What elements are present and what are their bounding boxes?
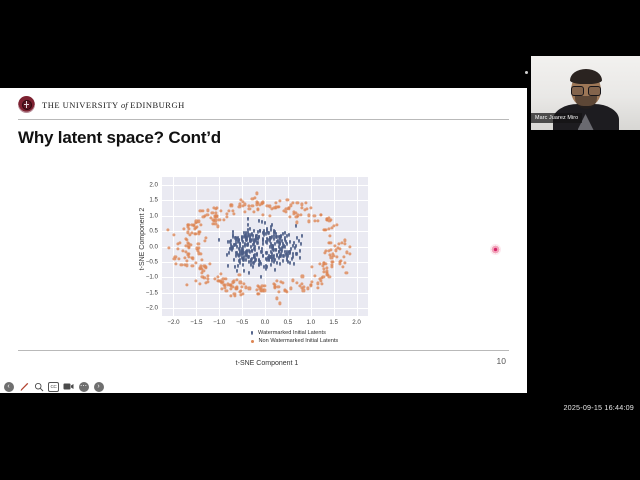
scatter-point xyxy=(228,209,231,212)
scatter-point xyxy=(182,227,185,230)
scatter-point xyxy=(188,233,191,236)
y-axis-tick-label: 0.5 xyxy=(149,228,158,235)
y-axis-tick-label: 0.0 xyxy=(149,243,158,250)
scatter-point xyxy=(295,215,298,218)
scatter-point xyxy=(191,257,194,260)
y-axis-tick-label: −2.0 xyxy=(146,305,158,312)
scatter-point xyxy=(247,217,249,221)
scatter-point xyxy=(343,242,346,245)
more-options-button[interactable]: ⋯ xyxy=(78,381,89,392)
previous-slide-icon: ‹ xyxy=(4,382,14,392)
shared-slide[interactable]: THE UNIVERSITY of EDINBURGH Why latent s… xyxy=(0,88,527,393)
scatter-point xyxy=(288,215,291,218)
scatter-point xyxy=(345,271,348,274)
scatter-point xyxy=(218,218,221,221)
scatter-point xyxy=(289,261,291,265)
x-axis-tick-label: −2.0 xyxy=(167,319,179,326)
scatter-point xyxy=(175,262,178,265)
scatter-point xyxy=(233,294,236,297)
screen-recording-frame: THE UNIVERSITY of EDINBURGH Why latent s… xyxy=(0,0,640,480)
scatter-point xyxy=(227,264,229,268)
scatter-point xyxy=(281,282,284,285)
scatter-point xyxy=(313,214,316,217)
scatter-point xyxy=(256,208,259,211)
scatter-point xyxy=(284,211,287,214)
scatter-point xyxy=(235,278,238,281)
legend-label-non-watermarked: Non Watermarked Initial Latents xyxy=(259,337,339,345)
scatter-point xyxy=(296,252,298,256)
y-axis-tick-label: 1.0 xyxy=(149,212,158,219)
scatter-point xyxy=(332,225,335,228)
scatter-point xyxy=(295,244,297,248)
scatter-point xyxy=(299,256,301,260)
scatter-point xyxy=(248,287,251,290)
scatter-point xyxy=(202,209,205,212)
scatter-point xyxy=(288,233,290,237)
scatter-point xyxy=(246,236,248,240)
scatter-point xyxy=(349,245,352,248)
scatter-point xyxy=(261,220,263,224)
scatter-point xyxy=(176,242,179,245)
y-axis-label: t-SNE Component 2 xyxy=(137,173,149,305)
scatter-point xyxy=(173,258,176,261)
scatter-point xyxy=(324,249,327,252)
scatter-point xyxy=(276,261,278,265)
scatter-point xyxy=(253,196,256,199)
scatter-point xyxy=(342,256,345,259)
scatter-point xyxy=(274,286,277,289)
scatter-point xyxy=(290,287,293,290)
scatter-point xyxy=(313,219,316,222)
scatter-point xyxy=(176,248,179,251)
scatter-point xyxy=(207,278,210,281)
scatter-point xyxy=(207,209,210,212)
scatter-point xyxy=(277,286,280,289)
y-axis-tick-label: −0.5 xyxy=(146,258,158,265)
scatter-point xyxy=(344,261,347,264)
scatter-point xyxy=(295,221,298,224)
scatter-point xyxy=(219,209,222,212)
university-brand: THE UNIVERSITY of EDINBURGH xyxy=(18,96,185,113)
scatter-point xyxy=(328,276,331,279)
scatter-point xyxy=(208,262,211,265)
scatter-point xyxy=(253,261,255,265)
scatter-point xyxy=(198,283,201,286)
chart-legend: Watermarked Initial Latents Non Watermar… xyxy=(249,329,338,345)
scatter-point xyxy=(274,242,276,246)
closed-captions-button[interactable]: CC xyxy=(48,381,59,392)
scatter-point xyxy=(215,206,218,209)
recording-status-dot-icon xyxy=(525,71,528,74)
scatter-point xyxy=(311,265,314,268)
scatter-point xyxy=(177,258,180,261)
scatter-point xyxy=(278,302,281,305)
scatter-point xyxy=(278,200,281,203)
x-axis-tick-label: 1.0 xyxy=(306,319,315,326)
scatter-point xyxy=(275,297,278,300)
scatter-point xyxy=(224,277,227,280)
next-slide-button[interactable]: › xyxy=(93,381,104,392)
scatter-point xyxy=(252,265,254,269)
scatter-point xyxy=(180,263,183,266)
scatter-point xyxy=(200,224,203,227)
laser-pointer-icon xyxy=(490,244,501,255)
scatter-point xyxy=(225,215,228,218)
x-axis-tick-label: 1.5 xyxy=(329,319,338,326)
video-camera-icon xyxy=(63,382,74,391)
scatter-point xyxy=(265,232,267,236)
scatter-point xyxy=(222,218,225,221)
gridline-horizontal xyxy=(162,216,368,217)
scatter-point xyxy=(316,282,319,285)
scatter-point xyxy=(316,286,319,289)
scatter-point xyxy=(197,232,200,235)
plot-area xyxy=(162,177,368,316)
scatter-point xyxy=(167,246,170,249)
scatter-point xyxy=(279,262,281,266)
legend-marker-circle-icon xyxy=(251,340,254,343)
scatter-point xyxy=(236,269,238,273)
scatter-point xyxy=(248,208,251,211)
scatter-point xyxy=(244,210,247,213)
scatter-point xyxy=(290,204,293,207)
scatter-point xyxy=(343,239,346,242)
scatter-point xyxy=(310,280,313,283)
scatter-point xyxy=(320,282,323,285)
scatter-point xyxy=(309,207,312,210)
scatter-point xyxy=(275,280,278,283)
scatter-point xyxy=(252,211,255,214)
tsne-scatter-figure: t-SNE Component 2 t-SNE Component 1 Wate… xyxy=(141,173,393,348)
scatter-point xyxy=(328,234,331,237)
scatter-point xyxy=(295,224,297,228)
participant-video-tile[interactable]: Marc Juarez Miro xyxy=(531,56,640,130)
header-divider xyxy=(18,119,509,120)
zoom-search-button[interactable] xyxy=(33,381,44,392)
scatter-point xyxy=(202,270,205,273)
scatter-point xyxy=(341,265,344,268)
scatter-point xyxy=(274,268,276,272)
scatter-point xyxy=(197,242,200,245)
scatter-point xyxy=(186,284,189,287)
scatter-point xyxy=(219,273,222,276)
scatter-point xyxy=(248,271,250,275)
scatter-point xyxy=(237,264,239,268)
scatter-point xyxy=(257,241,259,245)
legend-item-non-watermarked: Non Watermarked Initial Latents xyxy=(249,337,338,345)
more-options-icon: ⋯ xyxy=(79,382,89,392)
participant-name-label: Marc Juarez Miro xyxy=(531,113,582,123)
scatter-point xyxy=(289,240,291,244)
pen-annotate-button[interactable] xyxy=(18,381,29,392)
page-title: Why latent space? Cont’d xyxy=(18,128,221,148)
scatter-point xyxy=(309,284,312,287)
scatter-point xyxy=(338,262,341,265)
scatter-point xyxy=(334,249,337,252)
scatter-point xyxy=(275,201,278,204)
scatter-point xyxy=(238,274,241,277)
participant-glasses xyxy=(571,86,601,94)
scatter-point xyxy=(335,255,338,258)
scatter-point xyxy=(304,202,307,205)
pen-icon xyxy=(19,382,29,392)
gridline-horizontal xyxy=(162,262,368,263)
gridline-horizontal xyxy=(162,277,368,278)
scatter-point xyxy=(293,262,295,266)
scatter-point xyxy=(306,287,309,290)
legend-item-watermarked: Watermarked Initial Latents xyxy=(249,329,338,337)
scatter-point xyxy=(349,252,352,255)
footer-divider xyxy=(18,350,509,351)
legend-label-watermarked: Watermarked Initial Latents xyxy=(258,329,326,337)
gridline-horizontal xyxy=(162,308,368,309)
scatter-point xyxy=(307,220,310,223)
scatter-point xyxy=(241,204,244,207)
scatter-point xyxy=(229,294,232,297)
scatter-point xyxy=(269,215,272,218)
university-of-edinburgh-crest-icon xyxy=(18,96,35,113)
y-axis-tick-label: 2.0 xyxy=(149,181,158,188)
y-axis-tick-label: 1.5 xyxy=(149,197,158,204)
scatter-point xyxy=(231,248,233,252)
recording-timestamp: 2025-09-15 16:44:09 xyxy=(563,403,634,412)
scatter-point xyxy=(327,249,330,252)
scatter-point xyxy=(251,204,254,207)
x-axis-label: t-SNE Component 1 xyxy=(141,360,393,367)
video-button[interactable] xyxy=(63,381,74,392)
scatter-point xyxy=(228,251,230,255)
closed-captions-icon: CC xyxy=(48,382,59,392)
scatter-point xyxy=(249,250,251,254)
x-axis-tick-label: −1.5 xyxy=(190,319,202,326)
scatter-point xyxy=(277,205,280,208)
scatter-point xyxy=(199,252,202,255)
x-axis-tick-label: 0.5 xyxy=(284,319,293,326)
scatter-point xyxy=(301,234,303,238)
x-axis-tick-label: 2.0 xyxy=(352,319,361,326)
scatter-point xyxy=(302,289,305,292)
scatter-point xyxy=(299,249,301,253)
gridline-horizontal xyxy=(162,293,368,294)
legend-marker-diamond-icon xyxy=(251,331,253,335)
scatter-point xyxy=(258,203,261,206)
scatter-point xyxy=(172,233,175,236)
scatter-point xyxy=(253,229,255,233)
scatter-point xyxy=(296,201,299,204)
scatter-point xyxy=(266,241,268,245)
scatter-point xyxy=(265,267,267,271)
scatter-point xyxy=(191,265,194,268)
scatter-point xyxy=(205,281,208,284)
scatter-point xyxy=(303,209,306,212)
slide-page-number: 10 xyxy=(497,356,506,366)
scatter-point xyxy=(291,257,293,261)
y-axis-tick-label: −1.0 xyxy=(146,274,158,281)
scatter-point xyxy=(234,265,236,269)
brand-prefix: THE UNIVERSITY xyxy=(42,100,121,110)
scatter-point xyxy=(260,275,262,279)
next-slide-icon: › xyxy=(94,382,104,392)
x-axis-tick-label: −0.5 xyxy=(236,319,248,326)
scatter-point xyxy=(335,224,338,227)
search-icon xyxy=(34,382,44,392)
scatter-point xyxy=(270,263,272,267)
scatter-point xyxy=(261,201,264,204)
gridline-horizontal xyxy=(162,185,368,186)
previous-slide-button[interactable]: ‹ xyxy=(3,381,14,392)
scatter-point xyxy=(300,242,302,246)
scatter-point xyxy=(197,247,200,250)
brand-italic: of xyxy=(121,100,128,110)
x-axis-tick-label: 0.0 xyxy=(261,319,270,326)
brand-suffix: EDINBURGH xyxy=(128,100,185,110)
scatter-point xyxy=(243,269,245,273)
x-axis-tick-label: −1.0 xyxy=(213,319,225,326)
participant-hair xyxy=(570,69,602,84)
scatter-point xyxy=(230,239,232,243)
scatter-point xyxy=(229,287,232,290)
y-axis-tick-label: −1.5 xyxy=(146,289,158,296)
scatter-point xyxy=(255,192,258,195)
university-brand-label: THE UNIVERSITY of EDINBURGH xyxy=(42,100,185,110)
gridline-horizontal xyxy=(162,200,368,201)
scatter-point xyxy=(239,261,241,265)
scatter-point xyxy=(251,249,253,253)
scatter-point xyxy=(241,285,244,288)
scatter-point xyxy=(291,279,294,282)
scatter-point xyxy=(317,220,320,223)
scatter-point xyxy=(204,239,207,242)
scatter-point xyxy=(242,263,244,267)
scatter-point xyxy=(202,215,205,218)
presentation-toolbar[interactable]: ‹ CC ⋯ › xyxy=(3,381,104,392)
scatter-point xyxy=(186,264,189,267)
